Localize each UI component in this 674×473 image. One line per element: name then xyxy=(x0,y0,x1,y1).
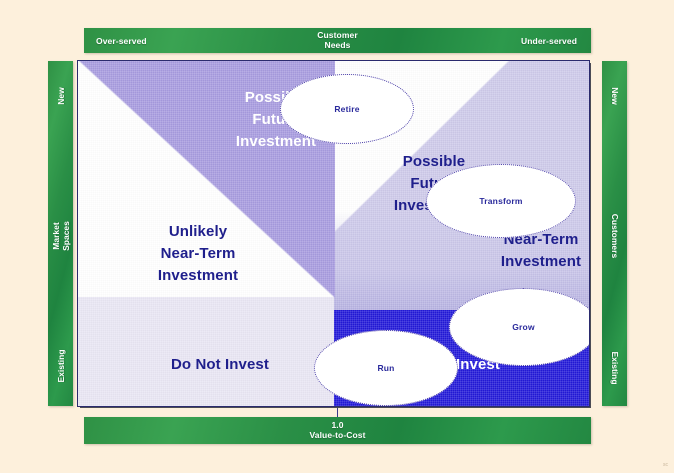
bubble-label-retire: Retire xyxy=(334,104,359,114)
axis-bar-bottom: 1.0 Value-to-Cost xyxy=(84,417,591,444)
axis-bar-right: New Customers Existing xyxy=(602,61,627,406)
axis-label-right-new: New xyxy=(610,87,620,104)
bubble-run[interactable]: Run xyxy=(314,330,458,406)
axis-bar-left: New Market Spaces Existing xyxy=(48,61,73,406)
bubble-label-run: Run xyxy=(377,363,394,373)
bubble-grow[interactable]: Grow xyxy=(449,288,590,366)
matrix-plot-area: Possible Future Investment Possible Futu… xyxy=(77,60,590,407)
quadrant-label-do-not-invest: Do Not Invest xyxy=(150,354,290,376)
axis-label-left-new: New xyxy=(56,87,66,104)
bubble-label-grow: Grow xyxy=(512,322,535,332)
corner-watermark: sc xyxy=(663,462,668,468)
axis-title-customers: Customers xyxy=(610,214,620,258)
bubble-retire[interactable]: Retire xyxy=(280,74,414,144)
region-bottom-left-pale xyxy=(78,297,334,406)
axis-title-market-spaces: Market Spaces xyxy=(51,221,71,251)
axis-title-customer-needs: Customer Needs xyxy=(84,30,591,50)
slide-canvas: Over-served Customer Needs Under-served … xyxy=(0,0,674,473)
axis-bar-top: Over-served Customer Needs Under-served xyxy=(84,28,591,53)
quadrant-label-unlikely-near-term-investment: Unlikely Near-Term Investment xyxy=(118,221,278,287)
axis-label-right-existing: Existing xyxy=(610,351,620,384)
axis-label-under-served: Under-served xyxy=(521,36,577,46)
axis-label-left-existing: Existing xyxy=(56,349,66,382)
axis-title-value-to-cost: 1.0 Value-to-Cost xyxy=(84,420,591,440)
bubble-label-transform: Transform xyxy=(479,196,522,206)
bubble-transform[interactable]: Transform xyxy=(426,164,576,238)
